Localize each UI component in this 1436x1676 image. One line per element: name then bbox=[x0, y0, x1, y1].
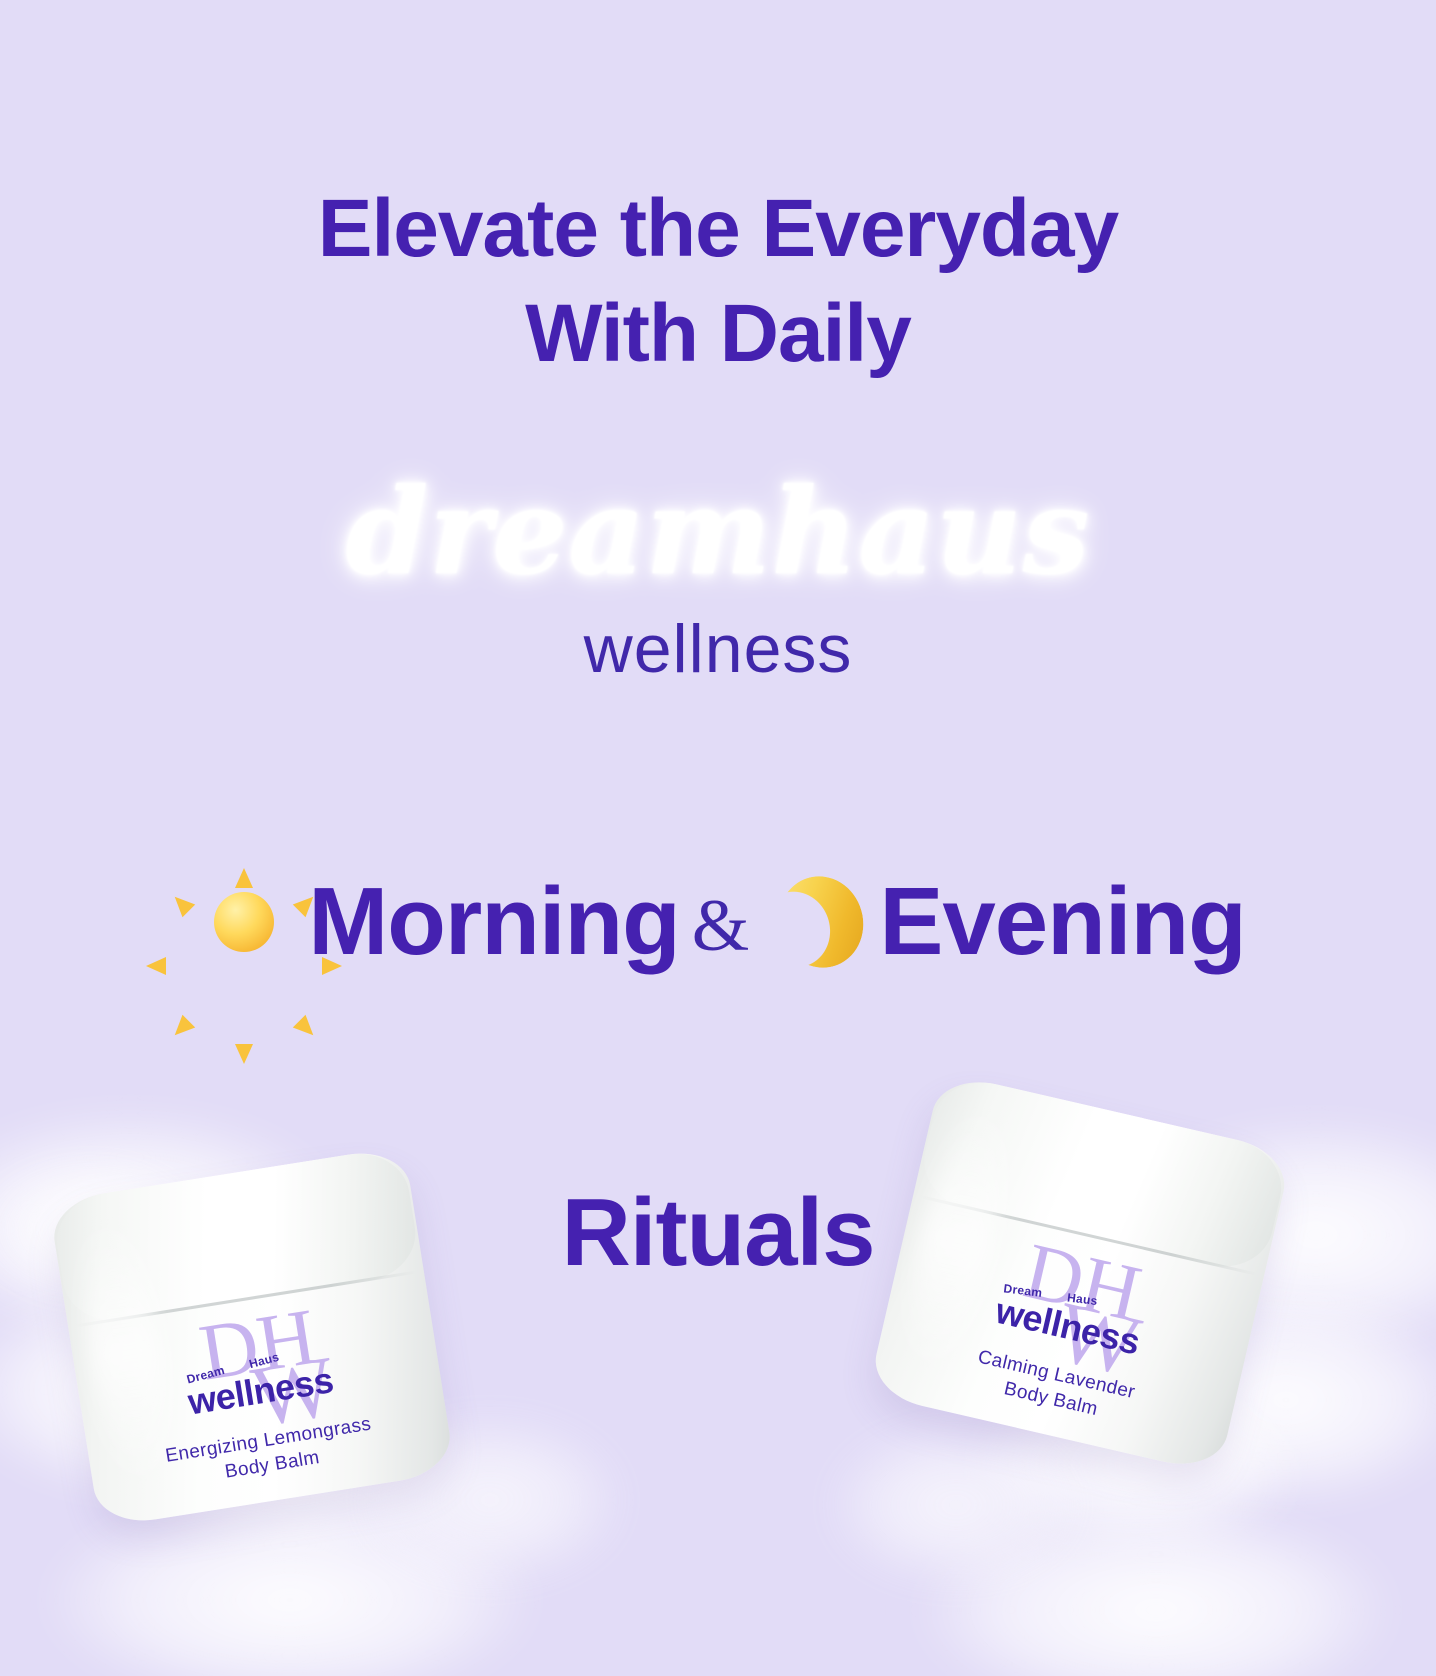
headline-line-1: Elevate the Everyday bbox=[318, 183, 1118, 274]
headline-line-2: With Daily bbox=[0, 282, 1436, 387]
crescent-moon-icon bbox=[767, 870, 871, 974]
morning-label: Morning bbox=[308, 874, 680, 970]
cloud-wisp bbox=[816, 1460, 1436, 1676]
evening-label: Evening bbox=[879, 874, 1245, 970]
brand-script-wordmark: dreamhaus bbox=[346, 470, 1091, 594]
ritual-headline-row: Morning & Evening bbox=[0, 868, 1436, 976]
moon-crescent bbox=[768, 866, 874, 978]
sun-core bbox=[214, 892, 274, 952]
rituals-label: Rituals bbox=[0, 1178, 1436, 1288]
brand-logo: dreamhaus wellness bbox=[0, 470, 1436, 688]
ampersand: & bbox=[684, 889, 758, 963]
page-title: Elevate the Everyday With Daily bbox=[0, 177, 1436, 387]
brand-subtitle: wellness bbox=[0, 610, 1436, 688]
promo-poster: Elevate the Everyday With Daily dreamhau… bbox=[0, 0, 1436, 1676]
sun-icon bbox=[190, 868, 298, 976]
